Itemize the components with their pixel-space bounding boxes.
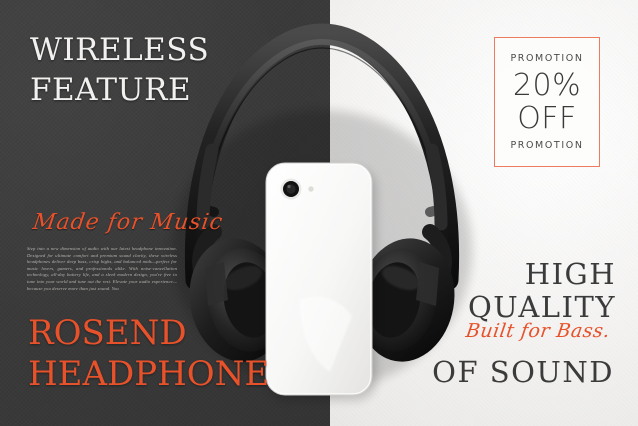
headline-line-2: FEATURE bbox=[30, 70, 209, 110]
brand-line-1: ROSEND bbox=[28, 313, 269, 354]
promo-bottom-label: PROMOTION bbox=[510, 140, 583, 151]
of-sound-line: OF SOUND bbox=[432, 356, 614, 389]
headline-line-1: WIRELESS bbox=[30, 30, 209, 70]
promo-off: OFF bbox=[517, 102, 577, 135]
script-made-for-music: Made for Music bbox=[31, 210, 224, 235]
promo-top-label: PROMOTION bbox=[510, 53, 583, 64]
brand-line-2: HEADPHONE bbox=[28, 354, 269, 395]
script-built-for-bass: Built for Bass. bbox=[465, 320, 612, 342]
body-copy: Step into a new dimension of audio with … bbox=[27, 246, 177, 292]
promotion-badge[interactable]: PROMOTION 20% OFF PROMOTION bbox=[494, 37, 600, 167]
headline: WIRELESS FEATURE bbox=[30, 30, 209, 110]
brand-name: ROSEND HEADPHONE bbox=[28, 313, 269, 395]
promo-percent: 20% bbox=[513, 69, 581, 102]
quality-heading: HIGH QUALITY bbox=[468, 258, 616, 324]
promo-poster: WIRELESS FEATURE Made for Music Step int… bbox=[0, 0, 638, 426]
quality-line-1: HIGH bbox=[468, 258, 616, 291]
